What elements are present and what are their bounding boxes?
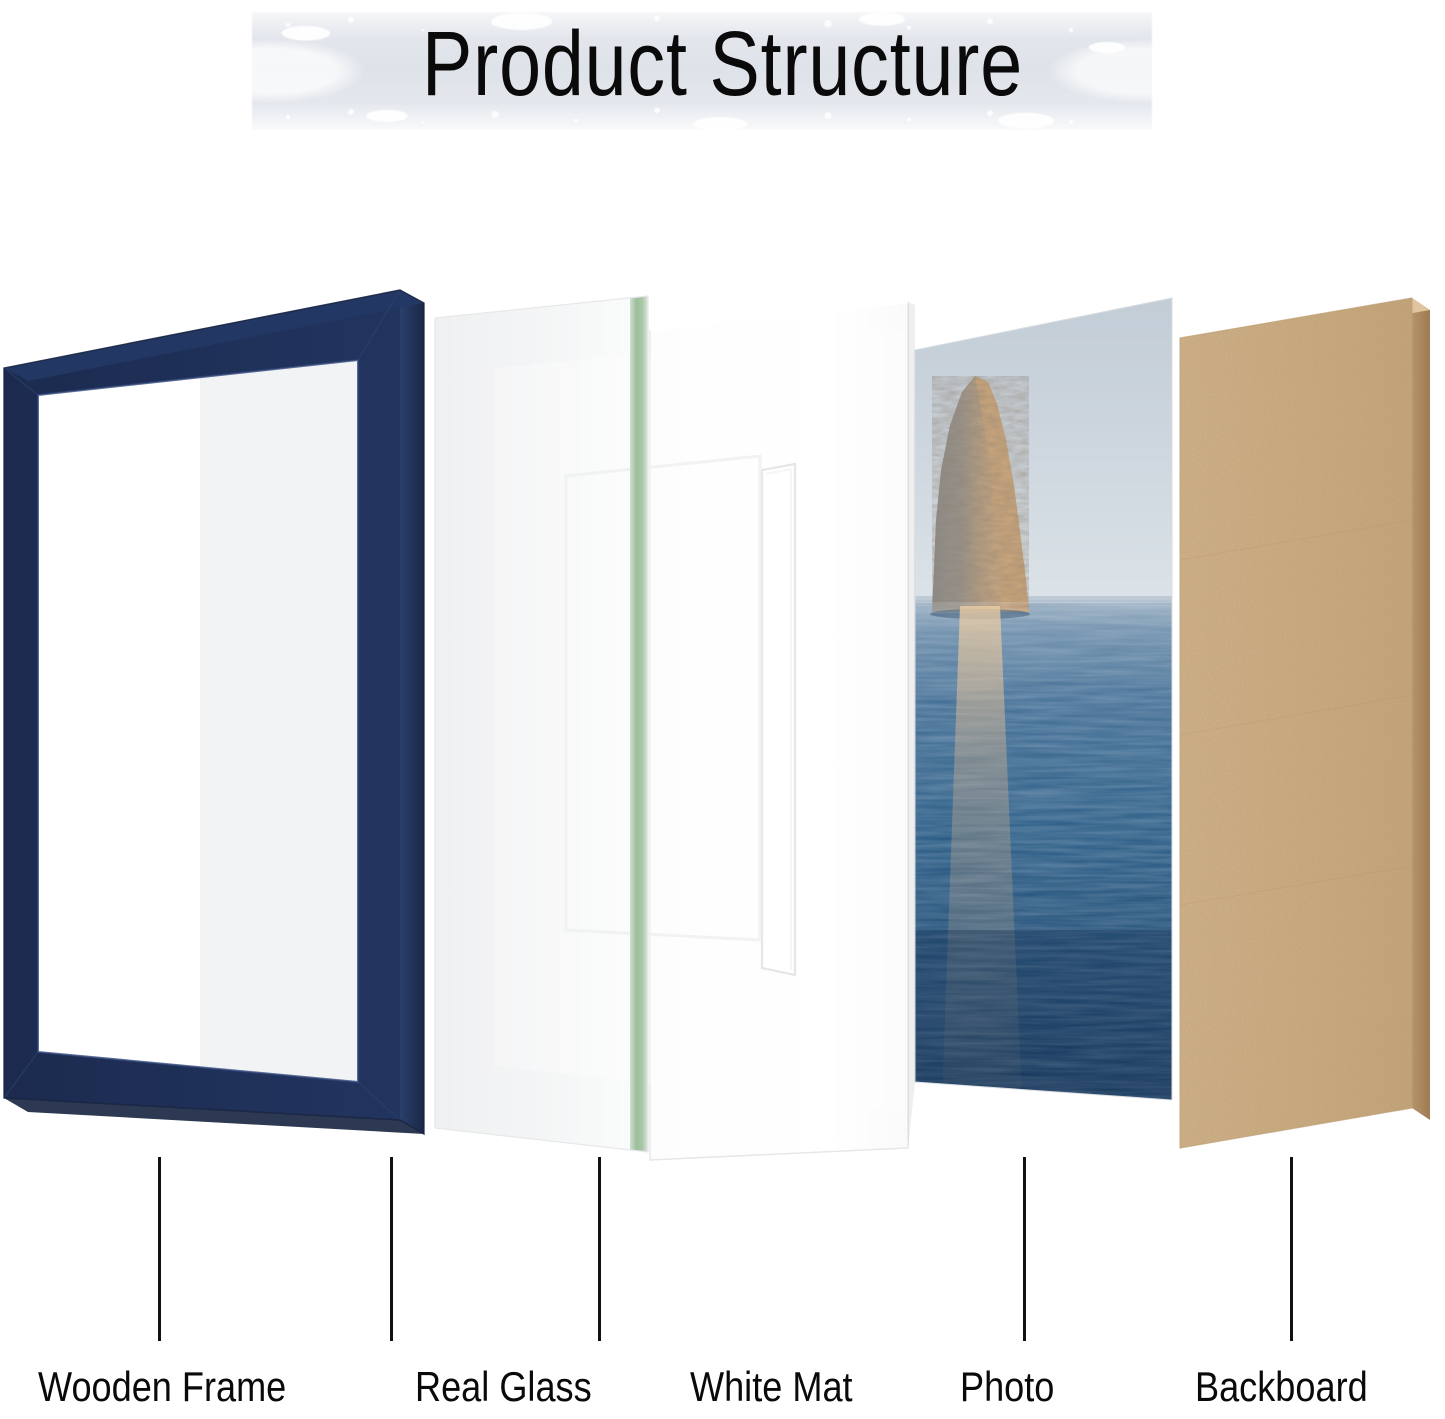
- leader-line-photo: [1023, 1157, 1026, 1341]
- caption-backboard: Backboard: [1195, 1362, 1368, 1412]
- caption-white-mat: White Mat: [690, 1362, 853, 1412]
- leader-line-real-glass: [390, 1157, 393, 1341]
- product-structure-infographic: Product Structure: [0, 0, 1445, 1419]
- leader-line-white-mat: [598, 1157, 601, 1341]
- callout-group: Wooden Frame Real Glass White Mat Photo …: [0, 0, 1445, 1419]
- leader-line-backboard: [1290, 1157, 1293, 1341]
- caption-photo: Photo: [960, 1362, 1054, 1412]
- leader-line-wooden-frame: [158, 1157, 161, 1341]
- caption-wooden-frame: Wooden Frame: [38, 1362, 286, 1412]
- caption-real-glass: Real Glass: [415, 1362, 592, 1412]
